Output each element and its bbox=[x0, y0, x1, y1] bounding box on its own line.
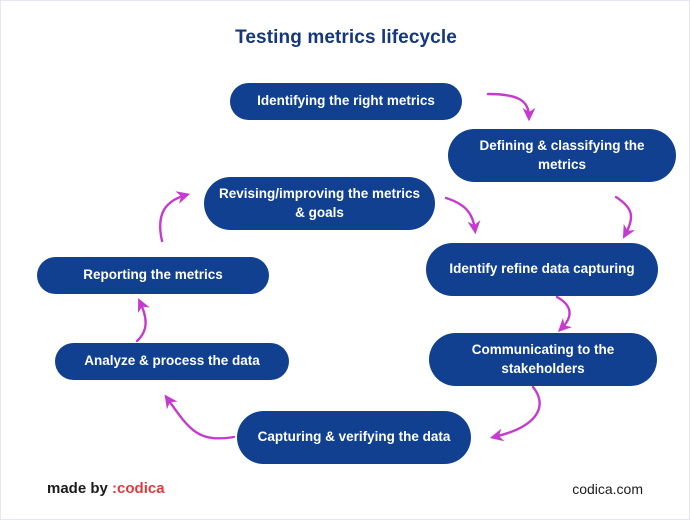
node-capturing-and-verifying-the-data[interactable]: Capturing & verifying the data bbox=[237, 411, 471, 464]
node-identifying-the-right-metrics[interactable]: Identifying the right metrics bbox=[230, 83, 462, 120]
node-defining-and-classifying-the-metrics[interactable]: Defining & classifying the metrics bbox=[448, 129, 676, 182]
arrow-n5-to-n6 bbox=[167, 398, 234, 438]
arrow-n2-to-n3 bbox=[616, 197, 631, 235]
page-title: Testing metrics lifecycle bbox=[1, 27, 690, 49]
codica-logo: :codica bbox=[112, 480, 165, 497]
arrow-n6-to-n7 bbox=[137, 302, 146, 341]
arrow-n4-to-n5 bbox=[494, 387, 540, 437]
made-by-credit: made by :codica bbox=[47, 480, 165, 497]
node-identify-refine-data-capturing[interactable]: Identify refine data capturing bbox=[426, 243, 658, 296]
node-analyze-and-process-the-data[interactable]: Analyze & process the data bbox=[55, 343, 289, 380]
node-revising-improving-the-metrics-and-goals[interactable]: Revising/improving the metrics & goals bbox=[204, 177, 435, 230]
arrow-n7-to-n8 bbox=[160, 195, 186, 241]
made-by-label: made by bbox=[47, 480, 112, 497]
node-communicating-to-the-stakeholders[interactable]: Communicating to the stakeholders bbox=[429, 333, 657, 386]
arrow-n1-to-n2 bbox=[488, 94, 529, 117]
node-reporting-the-metrics[interactable]: Reporting the metrics bbox=[37, 257, 269, 294]
website-link[interactable]: codica.com bbox=[572, 481, 643, 497]
arrow-n3-to-n4 bbox=[557, 297, 570, 329]
diagram-card: Testing metrics lifecycle Identifying th… bbox=[0, 0, 690, 520]
arrow-n2-to-n3-inner bbox=[446, 198, 475, 230]
